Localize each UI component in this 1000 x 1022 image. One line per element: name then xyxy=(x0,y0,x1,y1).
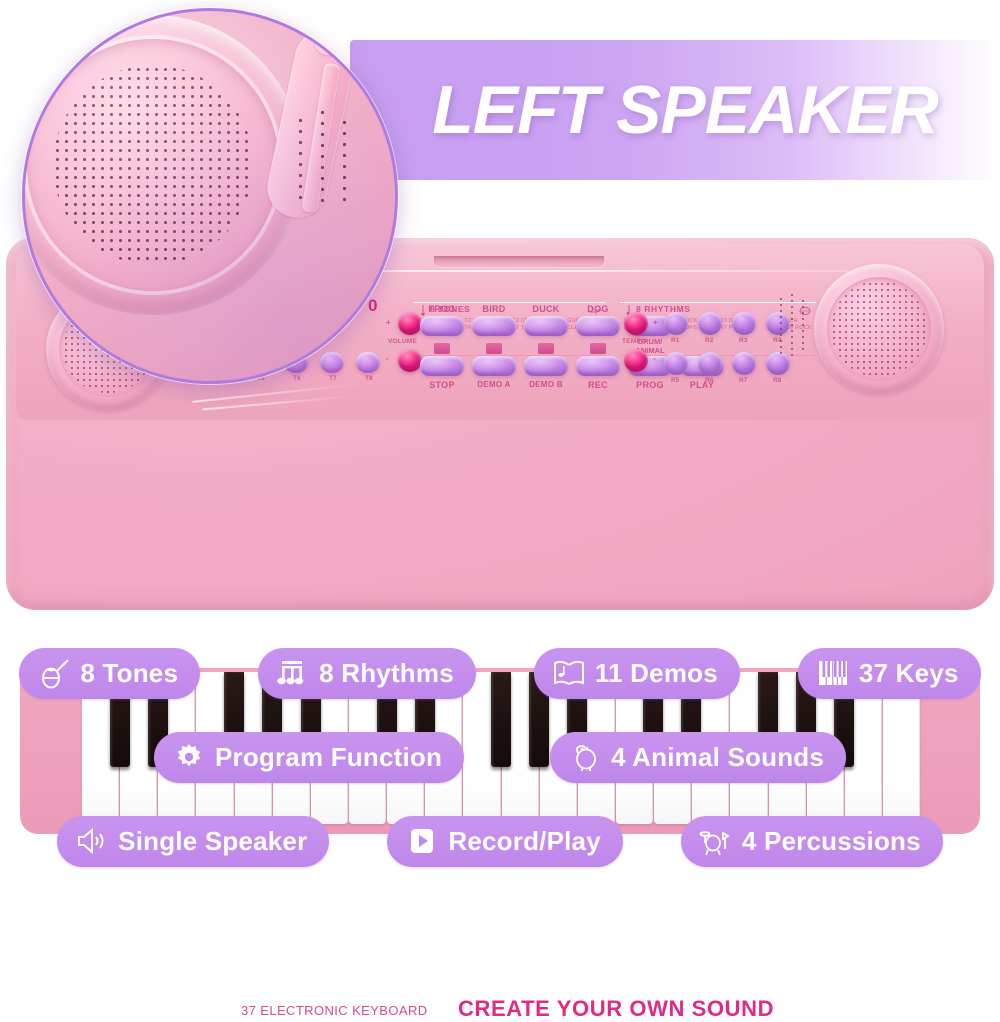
feature-4-percussions: 4 Percussions xyxy=(681,816,943,867)
songbook-icon xyxy=(552,657,586,689)
demo-b-button-label: DEMO B xyxy=(522,380,570,389)
stop-button-label: STOP xyxy=(420,380,464,390)
tempo-plus-sign: + xyxy=(653,318,658,327)
feature-label: 37 Keys xyxy=(859,658,959,689)
rhythm-label-r3: R3 xyxy=(739,337,747,344)
rec-button[interactable] xyxy=(576,356,620,376)
dog-icon xyxy=(590,343,606,354)
right-speaker xyxy=(814,264,944,394)
frog-icon xyxy=(434,343,450,354)
speaker-ring-zoomed xyxy=(22,15,303,315)
feature-label: Program Function xyxy=(215,742,442,773)
speaker-grille-zoomed xyxy=(53,65,253,265)
duck-button[interactable] xyxy=(524,316,568,336)
rhythm-label-r8: R8 xyxy=(773,377,781,384)
decor-line xyxy=(192,383,361,403)
rhythm-button-r3[interactable] xyxy=(732,312,756,335)
speaker-cone-zoomed xyxy=(27,39,279,291)
music-notes-icon xyxy=(276,657,310,689)
feature-8-rhythms: 8 Rhythms xyxy=(258,648,476,699)
speaker-grille xyxy=(831,281,927,377)
rhythm-button-r1[interactable] xyxy=(664,312,688,335)
tempo-label: TEMPO xyxy=(622,338,646,345)
power-switch-zoomed xyxy=(315,29,361,55)
rhythm-label-r1: R1 xyxy=(671,337,679,344)
rhythm-label-r7: R7 xyxy=(739,377,747,384)
feature-row-2: Program Function 4 Animal Sounds xyxy=(0,732,1000,783)
bird-icon xyxy=(486,343,502,354)
tempo-down-knob[interactable] xyxy=(624,349,648,372)
rec-button-label: REC xyxy=(576,380,620,390)
feature-program-function: Program Function xyxy=(154,732,464,783)
feature-8-tones: 8 Tones xyxy=(19,648,200,699)
rhythm-label-r2: R2 xyxy=(705,337,713,344)
bird-button-label: BIRD xyxy=(472,304,516,314)
speaker-cone xyxy=(827,277,931,381)
violin-icon xyxy=(37,657,71,689)
model-name: 37 ELECTRONIC KEYBOARD xyxy=(241,1003,428,1018)
rhythms-panel-title: 8 RHYTHMS xyxy=(636,304,691,314)
rhythm-button-r6[interactable] xyxy=(698,352,722,375)
demo-b-button[interactable] xyxy=(524,356,568,376)
drumkit-icon xyxy=(699,825,733,857)
banner-headline: LEFT SPEAKER xyxy=(405,62,965,158)
duck-button-label: DUCK xyxy=(524,304,568,314)
frog-button-label: FROG xyxy=(420,304,464,314)
bird-button[interactable] xyxy=(472,316,516,336)
feature-label: Single Speaker xyxy=(118,826,307,857)
tempo-up-knob[interactable] xyxy=(624,312,648,335)
volume-down-knob[interactable] xyxy=(398,349,422,372)
gear-icon xyxy=(172,741,206,773)
feature-single-speaker: Single Speaker xyxy=(57,816,329,867)
rhythm-label-r5: R5 xyxy=(671,377,679,384)
feature-row-1: 8 Tones 8 Rhythms 11 Demos 37 Keys xyxy=(0,648,1000,699)
prog-button-label: PROG xyxy=(628,380,672,390)
magnifier-lens xyxy=(22,8,398,384)
feature-badges: 8 Tones 8 Rhythms 11 Demos 37 Keys Pr xyxy=(0,640,1000,895)
feature-label: 4 Percussions xyxy=(742,826,921,857)
duck-icon xyxy=(538,343,554,354)
tagline: CREATE YOUR OWN SOUND xyxy=(458,996,774,1022)
rhythm-button-r7[interactable] xyxy=(732,352,756,375)
feature-label: 11 Demos xyxy=(595,658,718,689)
speaker-icon xyxy=(75,825,109,857)
piano-keys-icon xyxy=(816,657,850,689)
demo-a-button[interactable] xyxy=(472,356,516,376)
feature-label: 4 Animal Sounds xyxy=(611,742,824,773)
rhythm-label-r6: R6 xyxy=(705,377,713,384)
magnified-left-speaker xyxy=(22,8,398,384)
music-rest-slot xyxy=(434,256,604,267)
stop-button[interactable] xyxy=(420,356,464,376)
dog-button[interactable] xyxy=(576,316,620,336)
feature-record-play: Record/Play xyxy=(387,816,623,867)
feature-label: 8 Rhythms xyxy=(319,658,454,689)
feature-37-keys: 37 Keys xyxy=(798,648,981,699)
right-speaker-vents xyxy=(778,290,812,370)
dog-button-label: DOG xyxy=(576,304,620,314)
play-icon xyxy=(405,825,439,857)
feature-label: Record/Play xyxy=(448,826,601,857)
feature-4-animal-sounds: 4 Animal Sounds xyxy=(550,732,846,783)
tempo-minus-sign: - xyxy=(653,354,656,363)
frog-button[interactable] xyxy=(420,316,464,336)
animal-icon xyxy=(568,741,602,773)
rhythm-button-r5[interactable] xyxy=(664,352,688,375)
feature-11-demos: 11 Demos xyxy=(534,648,740,699)
vent-group-zoomed xyxy=(295,103,385,213)
volume-up-knob[interactable] xyxy=(398,312,422,335)
feature-row-3: Single Speaker Record/Play 4 Percussions xyxy=(0,816,1000,867)
rhythm-button-r2[interactable] xyxy=(698,312,722,335)
demo-a-button-label: DEMO A xyxy=(470,380,518,389)
play-button-label: PLAY xyxy=(680,380,724,390)
feature-label: 8 Tones xyxy=(80,658,178,689)
